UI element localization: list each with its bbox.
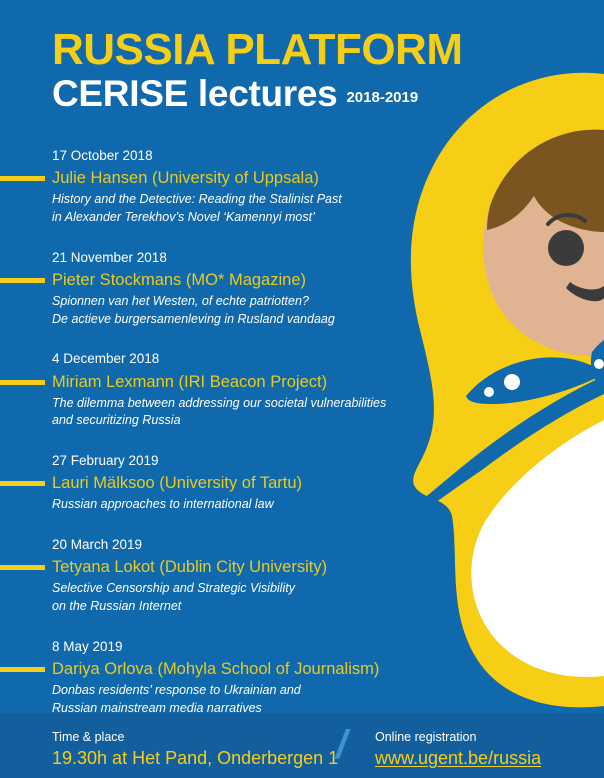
registration-link[interactable]: www.ugent.be/russia bbox=[375, 746, 541, 770]
lecture-description-line: History and the Detective: Reading the S… bbox=[52, 191, 400, 209]
doll-petal-dot-small bbox=[484, 387, 494, 397]
list-item: 20 March 2019 Tetyana Lokot (Dublin City… bbox=[0, 536, 400, 616]
poster-footer: Time & place 19.30h at Het Pand, Onderbe… bbox=[0, 713, 604, 778]
lecture-name-row: Julie Hansen (University of Uppsala) bbox=[0, 167, 400, 190]
doll-hair bbox=[487, 130, 604, 232]
list-item: 8 May 2019 Dariya Orlova (Mohyla School … bbox=[0, 638, 400, 718]
footer-time-place-label: Time & place bbox=[52, 729, 338, 745]
lecture-date: 8 May 2019 bbox=[52, 638, 400, 656]
doll-petal-right bbox=[591, 340, 604, 392]
doll-petal-dot-right bbox=[594, 359, 604, 369]
lecture-description-line: on the Russian Internet bbox=[52, 598, 400, 616]
lecture-description: The dilemma between addressing our socie… bbox=[52, 395, 400, 431]
lecture-speaker: Tetyana Lokot (Dublin City University) bbox=[52, 556, 327, 578]
lecture-name-row: Lauri Mälksoo (University of Tartu) bbox=[0, 472, 400, 495]
footer-time-place: Time & place 19.30h at Het Pand, Onderbe… bbox=[52, 729, 338, 771]
lecture-name-row: Tetyana Lokot (Dublin City University) bbox=[0, 556, 400, 579]
lecture-date: 4 December 2018 bbox=[52, 350, 400, 368]
doll-apron bbox=[471, 420, 604, 677]
lecture-date: 20 March 2019 bbox=[52, 536, 400, 554]
lecture-description: Selective Censorship and Strategic Visib… bbox=[52, 580, 400, 616]
lecture-name-row: Miriam Lexmann (IRI Beacon Project) bbox=[0, 371, 400, 394]
footer-separator-slash: / bbox=[336, 725, 347, 765]
dash-marker-icon bbox=[0, 667, 45, 672]
doll-scarf-edge-stripe bbox=[422, 376, 604, 502]
footer-registration-label: Online registration bbox=[375, 729, 541, 745]
page-subtitle-row: CERISE lectures 2018-2019 bbox=[52, 75, 462, 114]
footer-time-place-value: 19.30h at Het Pand, Onderbergen 1 bbox=[52, 746, 338, 770]
dash-marker-icon bbox=[0, 380, 45, 385]
lecture-speaker: Miriam Lexmann (IRI Beacon Project) bbox=[52, 371, 327, 393]
lecture-description-line: Selective Censorship and Strategic Visib… bbox=[52, 580, 400, 598]
lecture-description-line: Spionnen van het Westen, of echte patrio… bbox=[52, 293, 400, 311]
lecture-date: 17 October 2018 bbox=[52, 147, 400, 165]
lecture-date: 21 November 2018 bbox=[52, 249, 400, 267]
footer-registration: Online registration www.ugent.be/russia bbox=[375, 729, 541, 771]
doll-body-scarf bbox=[411, 73, 604, 708]
lecture-description-line: De actieve burgersamenleving in Rusland … bbox=[52, 311, 400, 329]
doll-smile bbox=[566, 282, 604, 301]
poster-canvas: RUSSIA PLATFORM CERISE lectures 2018-201… bbox=[0, 0, 604, 778]
page-subtitle: CERISE lectures bbox=[52, 75, 337, 114]
list-item: 4 December 2018 Miriam Lexmann (IRI Beac… bbox=[0, 350, 400, 430]
dash-marker-icon bbox=[0, 565, 45, 570]
lecture-description: Russian approaches to international law bbox=[52, 496, 400, 514]
list-item: 17 October 2018 Julie Hansen (University… bbox=[0, 147, 400, 227]
page-title: RUSSIA PLATFORM bbox=[52, 28, 462, 73]
lecture-description-line: and securitizing Russia bbox=[52, 412, 400, 430]
poster-headline: RUSSIA PLATFORM CERISE lectures 2018-201… bbox=[52, 28, 462, 114]
lecture-date: 27 February 2019 bbox=[52, 452, 400, 470]
dash-marker-icon bbox=[0, 278, 45, 283]
dash-marker-icon bbox=[0, 481, 45, 486]
lecture-name-row: Pieter Stockmans (MO* Magazine) bbox=[0, 269, 400, 292]
lecture-speaker: Pieter Stockmans (MO* Magazine) bbox=[52, 269, 306, 291]
doll-petal-large bbox=[466, 357, 604, 404]
lecture-speaker: Lauri Mälksoo (University of Tartu) bbox=[52, 472, 302, 494]
doll-eyebrow bbox=[548, 215, 585, 224]
dash-marker-icon bbox=[0, 176, 45, 181]
lecture-speaker: Julie Hansen (University of Uppsala) bbox=[52, 167, 319, 189]
lecture-description-line: in Alexander Terekhov’s Novel ‘Kamennyi … bbox=[52, 209, 400, 227]
lecture-name-row: Dariya Orlova (Mohyla School of Journali… bbox=[0, 658, 400, 681]
lecture-description: History and the Detective: Reading the S… bbox=[52, 191, 400, 227]
doll-eye bbox=[548, 230, 584, 266]
page-years: 2018-2019 bbox=[346, 89, 418, 106]
lecture-description: Spionnen van het Westen, of echte patrio… bbox=[52, 293, 400, 329]
lecture-description-line: The dilemma between addressing our socie… bbox=[52, 395, 400, 413]
lecture-speaker: Dariya Orlova (Mohyla School of Journali… bbox=[52, 658, 379, 680]
doll-face bbox=[483, 130, 604, 357]
list-item: 21 November 2018 Pieter Stockmans (MO* M… bbox=[0, 249, 400, 329]
lecture-list: 17 October 2018 Julie Hansen (University… bbox=[0, 147, 400, 718]
lecture-description-line: Donbas residents’ response to Ukrainian … bbox=[52, 682, 400, 700]
lecture-description-line: Russian approaches to international law bbox=[52, 496, 400, 514]
list-item: 27 February 2019 Lauri Mälksoo (Universi… bbox=[0, 452, 400, 514]
doll-petal-dot-large bbox=[504, 374, 520, 390]
